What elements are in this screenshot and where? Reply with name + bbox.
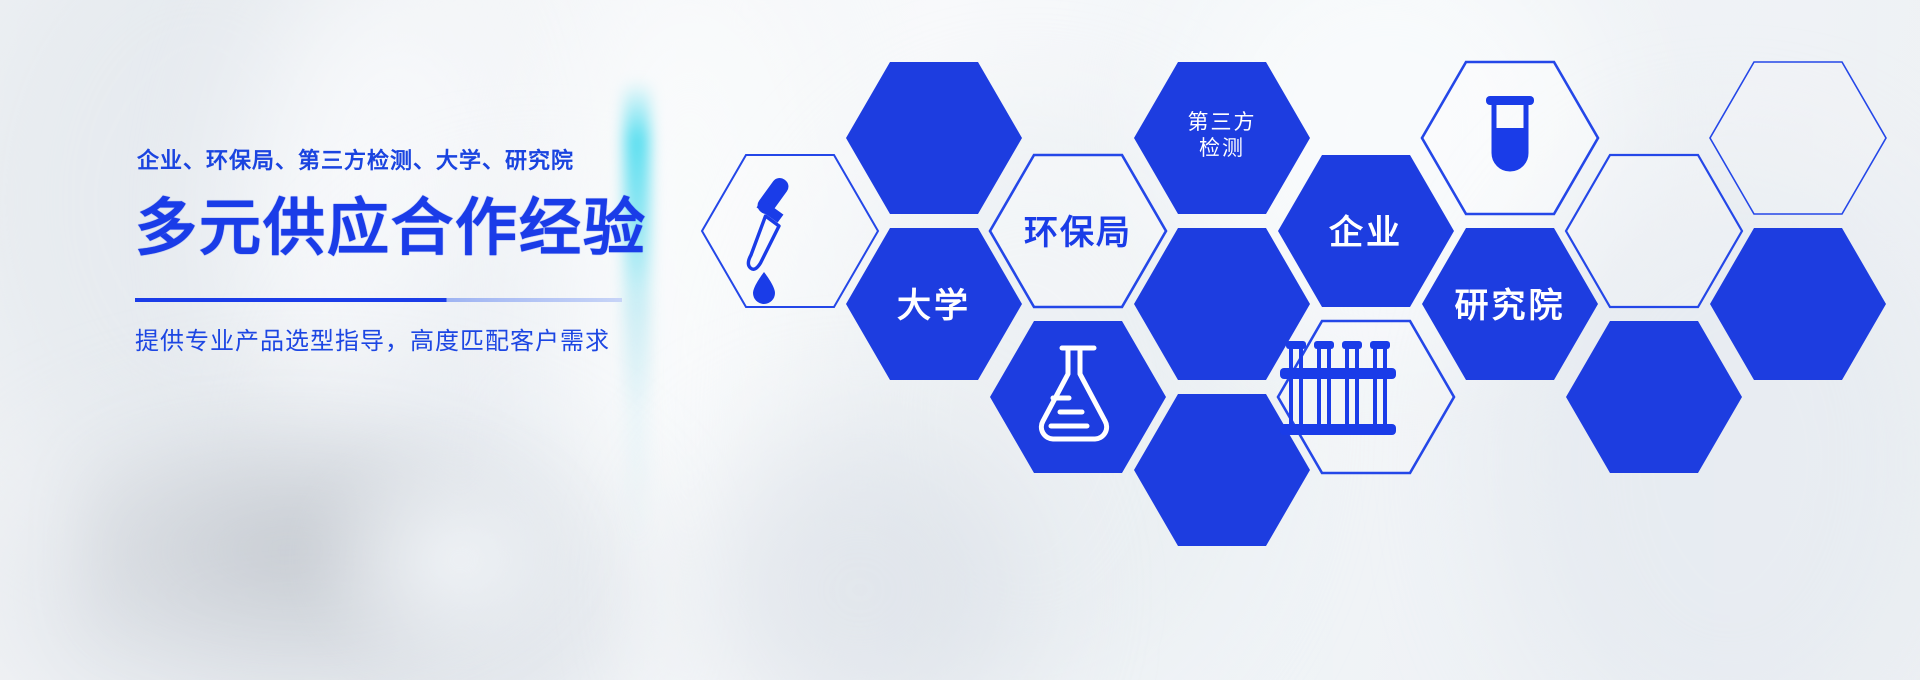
hexagon-cluster-svg <box>0 0 1920 680</box>
hexagon-qiye[interactable] <box>1278 155 1454 307</box>
promo-banner: 企业、环保局、第三方检测、大学、研究院 多元供应合作经验 提供专业产品选型指导，… <box>0 0 1920 680</box>
hexagon-edge-far[interactable] <box>1710 228 1886 380</box>
hexagon-dropper[interactable] <box>702 155 878 307</box>
hexagon-blank-top[interactable] <box>846 62 1022 214</box>
hexagon-blank-mid[interactable] <box>1134 228 1310 380</box>
hexagon-huanbaoju[interactable] <box>990 155 1166 307</box>
hexagon-edge-far-top[interactable] <box>1710 62 1886 214</box>
hexagon-blank-low[interactable] <box>1134 394 1310 546</box>
hexagon-disanfang[interactable] <box>1134 62 1310 214</box>
hexagon-cluster: 大学 环保局 第三方 检测 企业 研究院 <box>0 0 1920 680</box>
hexagon-edge-upper[interactable] <box>1566 155 1742 307</box>
hexagon-daxue[interactable] <box>846 228 1022 380</box>
hexagon-flask[interactable] <box>990 321 1166 473</box>
hexagon-edge-lower[interactable] <box>1566 321 1742 473</box>
hexagon-yanjiuyuan[interactable] <box>1422 228 1598 380</box>
